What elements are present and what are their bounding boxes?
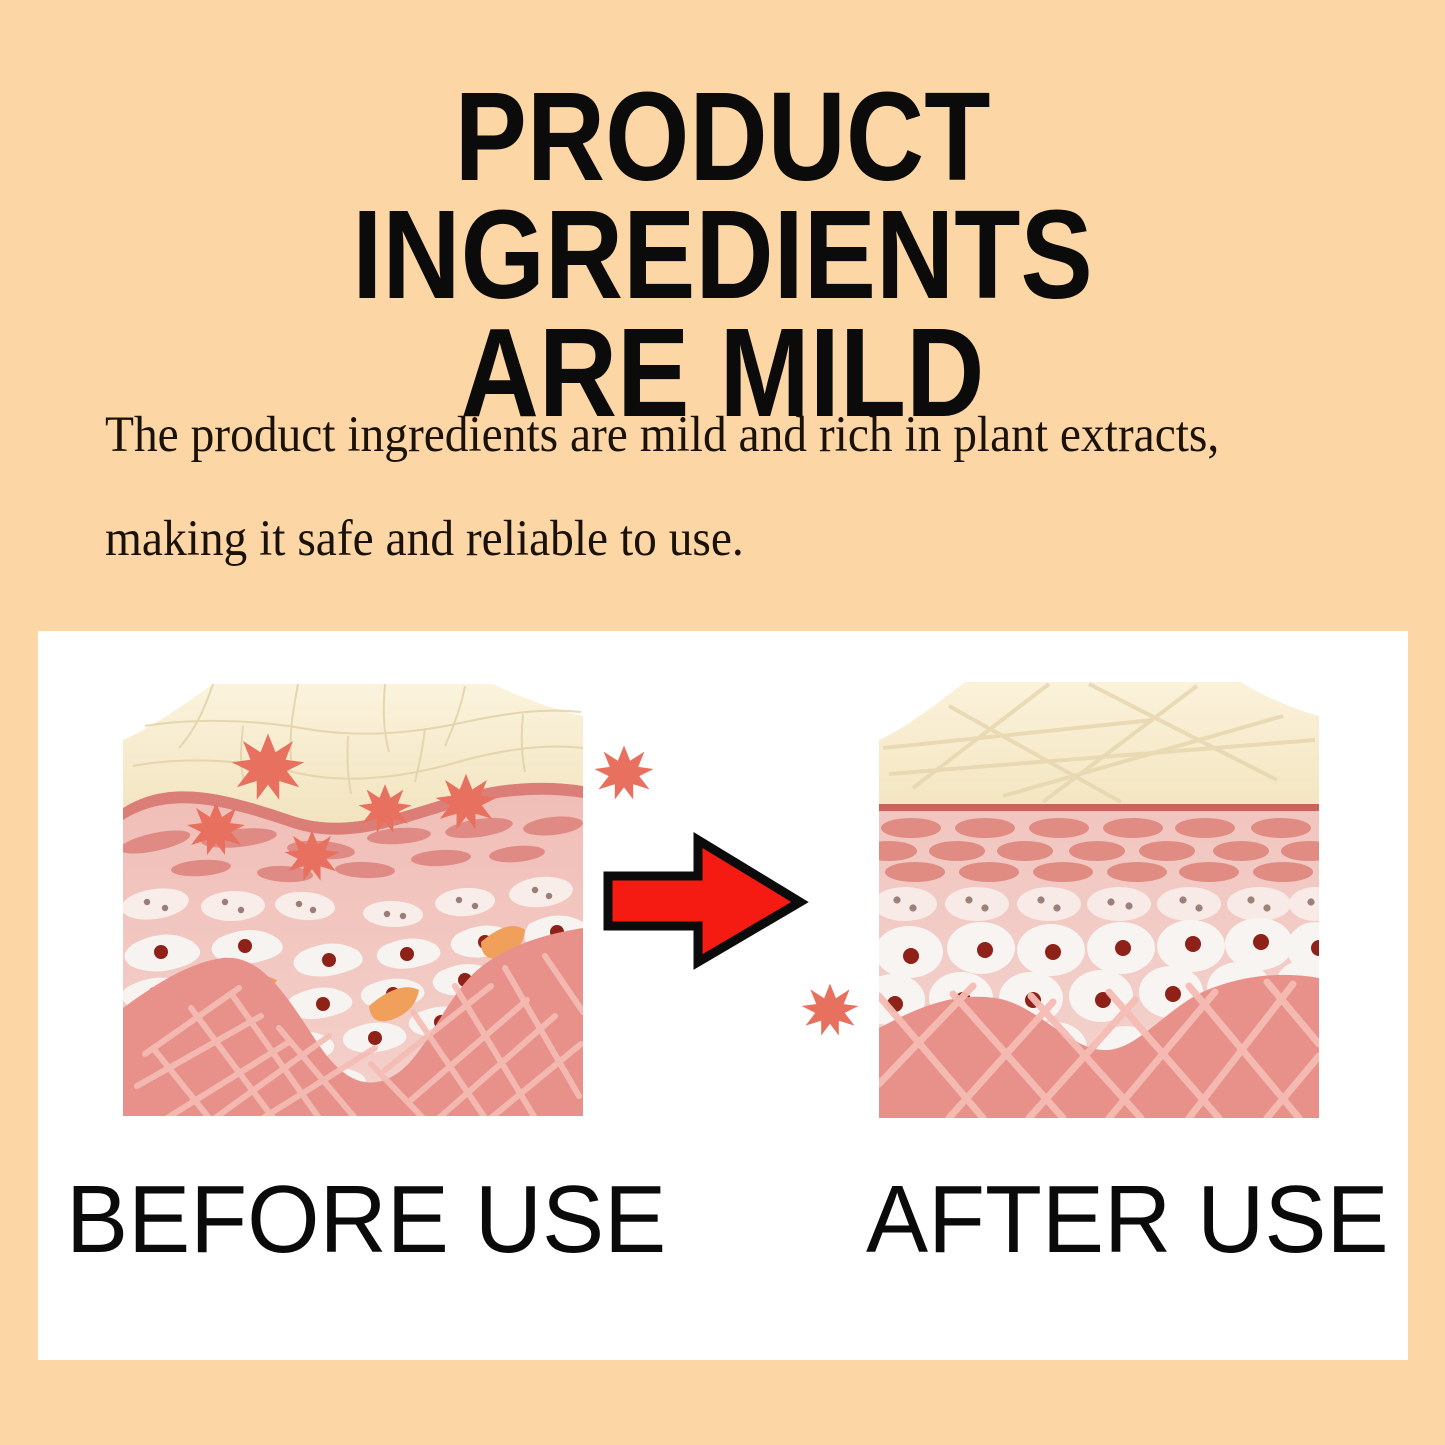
right-arrow-icon xyxy=(608,840,800,962)
headline-line-1: PRODUCT INGREDIENTS xyxy=(101,78,1344,314)
floating-spark-top xyxy=(592,740,656,809)
transition-arrow xyxy=(600,830,810,970)
after-use-figure xyxy=(853,656,1353,1126)
before-use-label: BEFORE USE xyxy=(66,1172,666,1268)
after-use-label: AFTER USE xyxy=(866,1172,1389,1268)
floating-spark-bottom xyxy=(798,977,862,1046)
page-title: PRODUCT INGREDIENTS ARE MILD xyxy=(101,78,1344,432)
body-paragraph: The product ingredients are mild and ric… xyxy=(105,383,1263,591)
basement-line xyxy=(879,804,1319,811)
product-ingredients-poster: PRODUCT INGREDIENTS ARE MILD The product… xyxy=(0,0,1445,1445)
before-use-figure xyxy=(93,656,613,1126)
